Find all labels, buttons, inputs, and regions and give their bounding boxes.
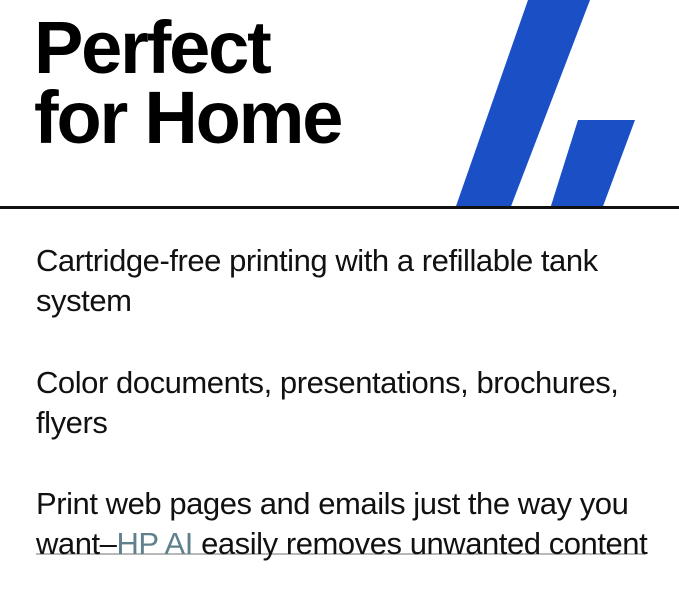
blue-bar-large-shape — [455, 0, 590, 209]
feature-item-print-web-pages: Print web pages and emails just the way … — [36, 484, 656, 564]
feature-text: Color documents, presentations, brochure… — [36, 365, 618, 440]
feature-item-cartridge-free: Cartridge-free printing with a refillabl… — [36, 241, 656, 321]
header-divider — [0, 206, 679, 209]
hp-slanted-bars-graphic — [430, 0, 679, 209]
blue-bar-small-shape — [550, 120, 635, 209]
product-feature-card: Perfect for Home Cartridge-free printing… — [0, 0, 679, 598]
feature-text-after: easily removes unwanted content — [193, 526, 647, 561]
feature-text: Cartridge-free printing with a refillabl… — [36, 243, 598, 318]
feature-item-color-documents: Color documents, presentations, brochure… — [36, 363, 656, 443]
hero-header: Perfect for Home — [0, 0, 679, 209]
hp-ai-highlight: HP AI — [116, 526, 192, 561]
page-title: Perfect for Home — [34, 13, 464, 154]
